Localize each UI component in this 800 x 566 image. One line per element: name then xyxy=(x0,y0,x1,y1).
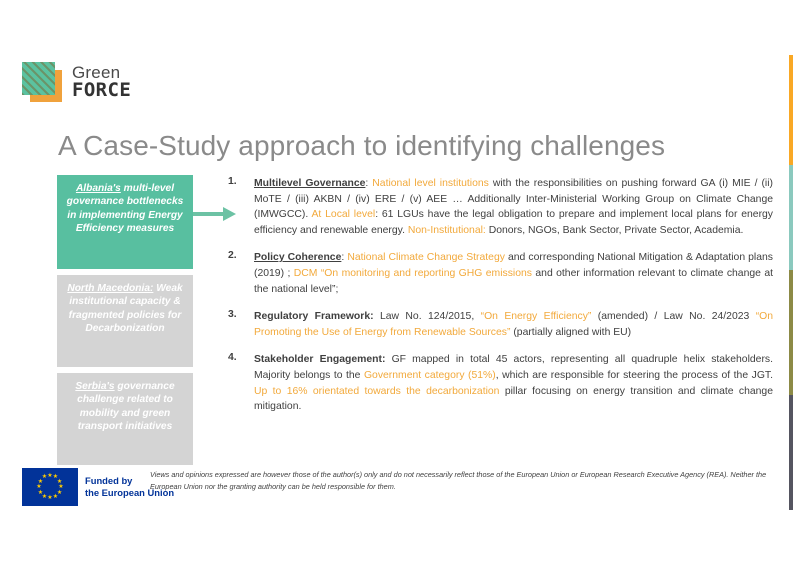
highlighted-text: Government category (51%) xyxy=(364,370,496,381)
highlighted-text: Up to 16% orientated towards the decarbo… xyxy=(254,386,499,397)
logo-word-force: FORCE xyxy=(72,81,131,100)
list-item-number: 1. xyxy=(228,176,254,238)
case-box-country-serbia: Serbia's xyxy=(75,381,114,392)
right-accent-bar xyxy=(789,55,793,510)
eu-star-icon: ★ xyxy=(42,474,48,480)
body-text: (amended) / Law No. 24/2023 xyxy=(591,311,755,322)
list-item-heading: Multilevel Governance xyxy=(254,178,365,189)
highlighted-text: “On Energy Efficiency” xyxy=(481,311,592,322)
highlighted-text: At Local level xyxy=(312,209,376,220)
eu-star-icon: ★ xyxy=(36,484,42,490)
case-box-serbia: Serbia's governance challenge related to… xyxy=(57,373,193,465)
list-item-body: Regulatory Framework: Law No. 124/2015, … xyxy=(254,309,773,340)
list-item: 3. Regulatory Framework: Law No. 124/201… xyxy=(228,309,773,340)
highlighted-text: Non-Institutional: xyxy=(408,225,486,236)
accent-segment-orange xyxy=(789,55,793,165)
list-item-number: 3. xyxy=(228,309,254,340)
list-item-heading: Policy Coherence xyxy=(254,252,341,263)
list-item-body: Multilevel Governance: National level in… xyxy=(254,176,773,238)
list-item-number: 2. xyxy=(228,250,254,297)
list-item-body: Policy Coherence: National Climate Chang… xyxy=(254,250,773,297)
body-text: Law No. 124/2015, xyxy=(374,311,481,322)
eu-flag-icon: ★★★★★★★★★★★★ xyxy=(22,468,78,506)
accent-segment-teal xyxy=(789,165,793,270)
slide-canvas: Green FORCE A Case-Study approach to ide… xyxy=(0,0,800,566)
highlighted-text: National Climate Change Strategy xyxy=(347,252,505,263)
body-text: (partially aligned with EU) xyxy=(510,327,631,338)
list-item: 4. Stakeholder Engagement: GF mapped in … xyxy=(228,352,773,414)
case-box-country-albania: Albania's xyxy=(76,183,121,194)
eu-star-icon: ★ xyxy=(47,495,53,501)
list-item-body: Stakeholder Engagement: GF mapped in tot… xyxy=(254,352,773,414)
greenforce-logo: Green FORCE xyxy=(22,62,131,102)
list-item: 2. Policy Coherence: National Climate Ch… xyxy=(228,250,773,297)
logo-green-square xyxy=(22,62,55,95)
list-item-number: 4. xyxy=(228,352,254,414)
page-title: A Case-Study approach to identifying cha… xyxy=(58,130,665,162)
disclaimer-text: Views and opinions expressed are however… xyxy=(150,469,770,493)
case-box-north-macedonia: North Macedonia: Weak institutional capa… xyxy=(57,275,193,367)
eu-star-icon: ★ xyxy=(37,490,43,496)
logo-mark-icon xyxy=(22,62,64,102)
list-item: 1. Multilevel Governance: National level… xyxy=(228,176,773,238)
case-study-column: Albania's multi-level governance bottlen… xyxy=(57,175,193,471)
body-text: , which are responsible for steering the… xyxy=(496,370,773,381)
list-item-heading: Stakeholder Engagement: xyxy=(254,354,385,365)
accent-segment-olive xyxy=(789,270,793,395)
logo-wordmark: Green FORCE xyxy=(72,64,131,100)
case-box-albania: Albania's multi-level governance bottlen… xyxy=(57,175,193,269)
slide-footer: ★★★★★★★★★★★★ Funded by the European Unio… xyxy=(0,462,800,507)
body-text: Donors, NGOs, Bank Sector, Private Secto… xyxy=(486,225,744,236)
highlighted-text: National level institutions xyxy=(372,178,489,189)
eu-star-icon: ★ xyxy=(53,494,59,500)
highlighted-text: DCM “On monitoring and reporting GHG emi… xyxy=(294,268,532,279)
case-box-country-north-macedonia: North Macedonia: xyxy=(67,283,153,294)
challenges-list: 1. Multilevel Governance: National level… xyxy=(228,176,773,427)
list-item-heading: Regulatory Framework: xyxy=(254,311,374,322)
